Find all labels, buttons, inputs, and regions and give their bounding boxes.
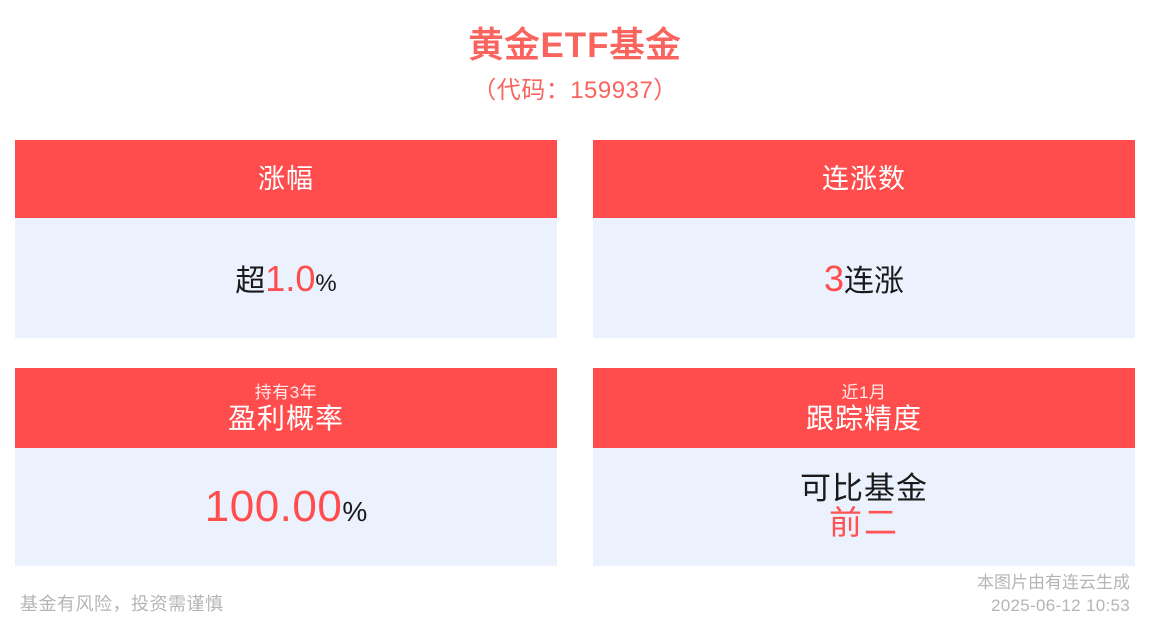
stat-card-tracking-accuracy-value: 可比基金 前二 bbox=[800, 473, 928, 541]
stat-card-profit-probability-value: 100.00 % bbox=[205, 482, 367, 532]
stat-card-profit-probability-title: 盈利概率 bbox=[228, 402, 344, 436]
gain-value-prefix: 超 bbox=[235, 256, 265, 300]
gain-value-unit: % bbox=[315, 270, 336, 298]
gain-value-main: 1.0 bbox=[265, 258, 315, 300]
profit-probability-value-unit: % bbox=[342, 496, 367, 528]
consecutive-gains-value-main: 3 bbox=[824, 258, 844, 300]
fund-code: （代码：159937） bbox=[0, 75, 1150, 106]
profit-probability-value-main: 100.00 bbox=[205, 482, 343, 532]
stat-card-consecutive-gains-value: 3 连涨 bbox=[824, 256, 904, 300]
page-header: 黄金ETF基金 （代码：159937） bbox=[0, 0, 1150, 106]
stat-card-profit-probability-body: 100.00 % bbox=[15, 448, 557, 566]
risk-disclaimer: 基金有风险，投资需谨慎 bbox=[20, 590, 224, 618]
stat-card-consecutive-gains-body: 3 连涨 bbox=[593, 218, 1135, 338]
stat-card-gain-value: 超 1.0 % bbox=[235, 256, 336, 300]
stat-card-consecutive-gains: 连涨数 3 连涨 bbox=[593, 140, 1135, 338]
stat-card-profit-probability-sublabel: 持有3年 bbox=[255, 382, 317, 403]
tracking-accuracy-value-line2: 前二 bbox=[829, 506, 899, 541]
stat-card-consecutive-gains-title: 连涨数 bbox=[822, 163, 906, 195]
stat-card-gain-body: 超 1.0 % bbox=[15, 218, 557, 338]
stat-card-tracking-accuracy: 近1月 跟踪精度 可比基金 前二 bbox=[593, 368, 1135, 566]
stat-card-grid: 涨幅 超 1.0 % 连涨数 3 连涨 持有3年 盈利概率 bbox=[15, 140, 1135, 566]
page-title: 黄金ETF基金 bbox=[0, 26, 1150, 66]
stat-card-tracking-accuracy-sublabel: 近1月 bbox=[842, 382, 887, 403]
stat-card-gain-header: 涨幅 bbox=[15, 140, 557, 218]
stat-card-profit-probability: 持有3年 盈利概率 100.00 % bbox=[15, 368, 557, 566]
stat-card-profit-probability-header: 持有3年 盈利概率 bbox=[15, 368, 557, 448]
image-credit: 本图片由有连云生成 2025-06-12 10:53 bbox=[977, 572, 1130, 618]
image-credit-source: 本图片由有连云生成 bbox=[977, 573, 1130, 592]
stat-card-tracking-accuracy-title: 跟踪精度 bbox=[806, 402, 922, 436]
page-footer: 基金有风险，投资需谨慎 本图片由有连云生成 2025-06-12 10:53 bbox=[0, 568, 1150, 632]
stat-card-tracking-accuracy-body: 可比基金 前二 bbox=[593, 448, 1135, 566]
stat-card-consecutive-gains-header: 连涨数 bbox=[593, 140, 1135, 218]
consecutive-gains-value-unit: 连涨 bbox=[844, 256, 904, 300]
stat-card-gain: 涨幅 超 1.0 % bbox=[15, 140, 557, 338]
tracking-accuracy-value-line1: 可比基金 bbox=[800, 473, 928, 506]
stat-card-gain-title: 涨幅 bbox=[258, 163, 314, 195]
stat-card-tracking-accuracy-header: 近1月 跟踪精度 bbox=[593, 368, 1135, 448]
image-credit-timestamp: 2025-06-12 10:53 bbox=[977, 595, 1130, 618]
